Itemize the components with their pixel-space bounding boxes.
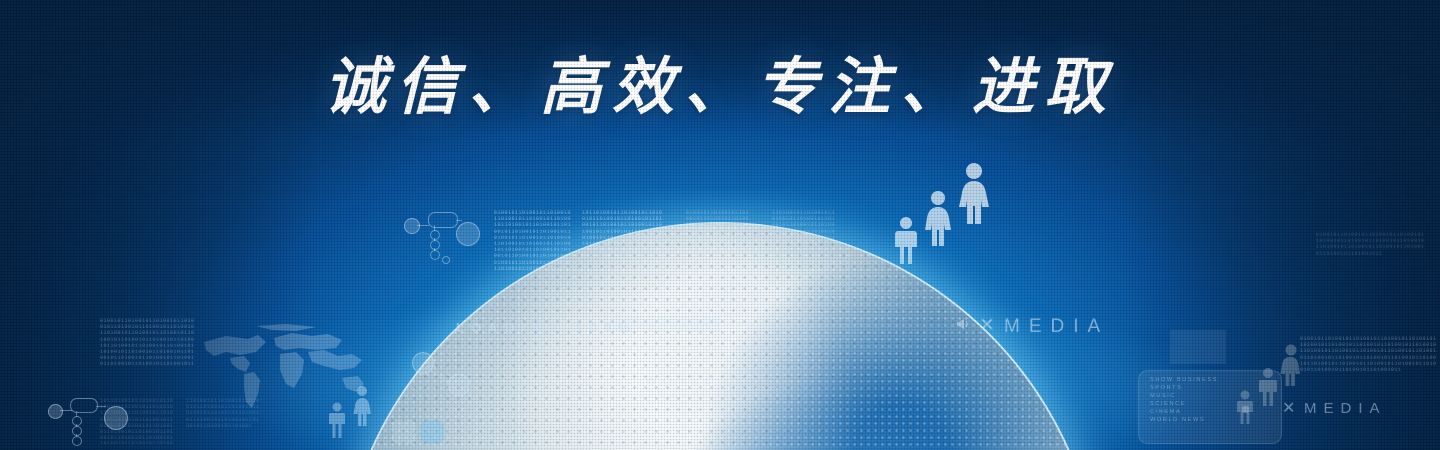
panel-item-0[interactable]: SHOW BUSINESS xyxy=(1150,376,1218,384)
chat-app-icon[interactable] xyxy=(392,420,416,444)
data-block-right-1: 0100101101001011010010110100101101001011… xyxy=(1300,336,1440,446)
data-block-center-1: 0100101101001011010010110100101101001011… xyxy=(494,210,574,272)
data-block-right-2: 0100101101001011010010110100101101001011… xyxy=(1316,232,1426,286)
page-headline: 诚信、高效、专注、进取 xyxy=(0,56,1440,121)
panel-item-2[interactable]: MUSIC xyxy=(1150,392,1176,400)
loading-label: LOADING 100% xyxy=(456,320,637,335)
node-diagram-loading xyxy=(412,352,474,398)
panel-item-1[interactable]: SPORTS xyxy=(1150,384,1183,392)
panel-item-5[interactable]: WORLD NEWS xyxy=(1150,416,1205,424)
world-subtext-block: 0100101101001011010010110100101101001011… xyxy=(640,388,750,413)
node-diagram-center xyxy=(404,208,474,278)
panel-item-4[interactable]: CINEMA xyxy=(1150,408,1181,416)
volume-icon xyxy=(955,316,971,337)
data-block-center-4: 1101001011010010110100101101001011010010… xyxy=(772,210,838,272)
media-brand-label-bottom: MEDIA xyxy=(1304,400,1387,417)
hero-banner: WORLD 0100101101001011010010110100101101… xyxy=(0,0,1440,450)
data-block-left-2: 1011010010110100101101001011010010110100… xyxy=(100,398,176,444)
data-block-left-3: 1101001011010010110100101101001011010010… xyxy=(186,398,262,444)
data-block-center-2: 1011010010110100101101001011010010110100… xyxy=(582,210,664,272)
panel-indicator-square xyxy=(1242,406,1249,413)
media-brand-mark-bottom: ✕ xyxy=(1282,398,1302,418)
data-block-left-1: 0100101101001011010010110100101101001011… xyxy=(100,318,196,368)
video-app-icon[interactable] xyxy=(420,420,444,444)
data-block-center-3: 0100101101001011010010110100101101001011… xyxy=(686,210,752,272)
loading-progress-bar xyxy=(612,316,720,332)
panel-item-3[interactable]: SCIENCE xyxy=(1150,400,1186,408)
media-brand-label: MEDIA xyxy=(1004,316,1109,338)
world-label: WORLD xyxy=(645,372,719,387)
panel-thumbnail-right xyxy=(1170,330,1226,364)
media-brand-mark: ✕ xyxy=(979,314,1004,337)
